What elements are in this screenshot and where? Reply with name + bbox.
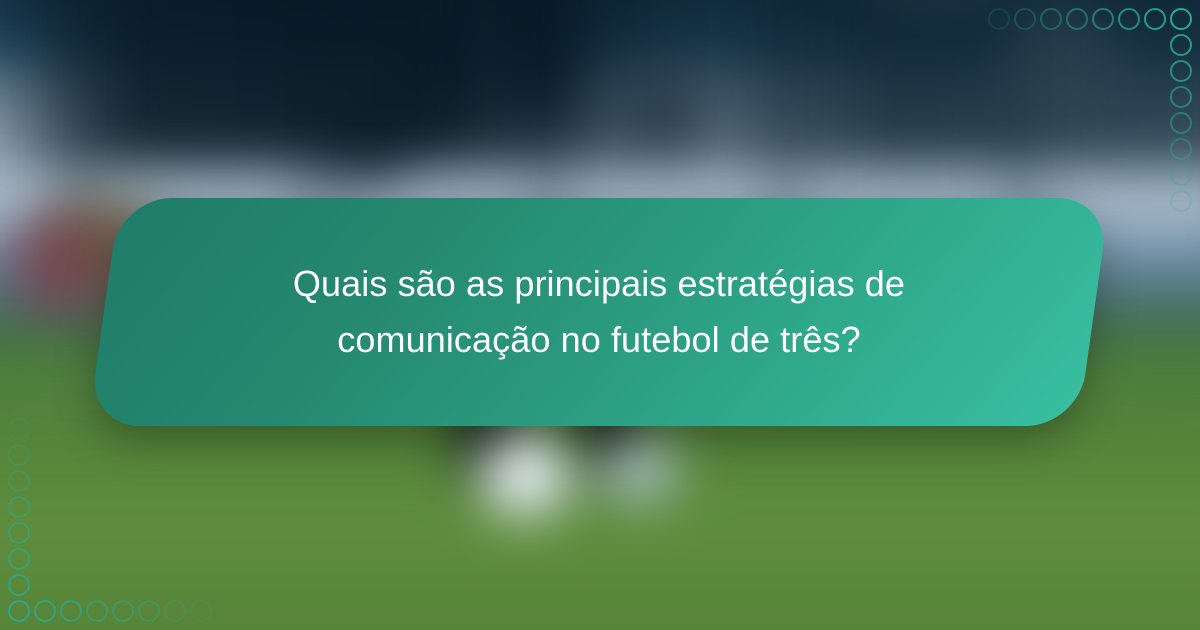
quote-text: Quais são as principais estratégias de c…	[249, 256, 949, 368]
football-ball-secondary	[600, 432, 678, 504]
football-ball	[480, 430, 572, 518]
stadium-roof-band	[0, 0, 1200, 170]
quote-card-graphic: Quais são as principais estratégias de c…	[0, 0, 1200, 630]
quote-card-content: Quais são as principais estratégias de c…	[104, 198, 1094, 426]
quote-card: Quais são as principais estratégias de c…	[104, 198, 1094, 426]
